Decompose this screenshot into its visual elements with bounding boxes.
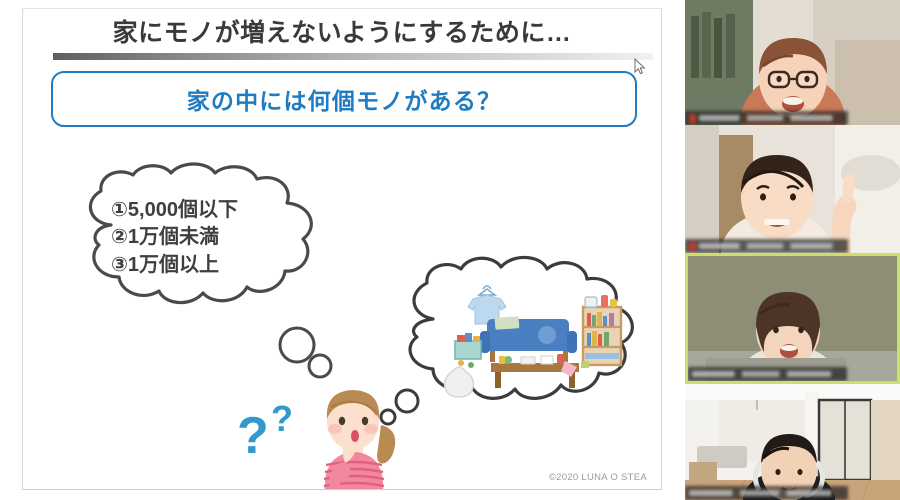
video-frame-1 [685, 0, 900, 125]
participant-tile-3[interactable] [685, 253, 900, 384]
participant-video-1 [685, 0, 900, 125]
participant-tile-1[interactable] [685, 0, 900, 125]
participant-name-label-4 [685, 486, 848, 500]
video-frame-4 [685, 384, 900, 500]
participant-name-text-2 [699, 243, 844, 249]
participant-video-2 [685, 125, 900, 253]
presentation-slide: 家にモノが増えないようにするために… 家の中には何個モノがある？ ①5,000個… [22, 8, 662, 490]
question-box-text: 家の中には何個モノがある？ [187, 82, 502, 116]
bookshelf-illustration [583, 295, 621, 365]
participant-name-text-1 [699, 115, 844, 121]
answer-option-1: ①5,000個以下 [111, 197, 341, 223]
participant-name-label-1 [685, 111, 848, 125]
thinking-woman-illustration [295, 381, 415, 490]
shared-screen-area[interactable]: 家にモノが増えないようにするために… 家の中には何個モノがある？ ①5,000個… [0, 0, 685, 500]
participant-tile-2[interactable] [685, 125, 900, 253]
answer-option-3: ③1万個以上 [111, 252, 341, 278]
svg-text:?: ? [271, 398, 293, 439]
title-divider-rule [53, 53, 653, 60]
copyright-notice: ©2020 LUNA O STEA [549, 472, 647, 483]
microphone-muted-icon [689, 114, 696, 123]
participant-name-text-3 [692, 371, 843, 377]
participant-filmstrip[interactable] [685, 0, 900, 500]
participant-tile-4[interactable] [685, 384, 900, 500]
video-frame-3 [688, 256, 897, 381]
microphone-muted-icon [689, 242, 696, 251]
slide-title: 家にモノが増えないようにするために… [23, 13, 661, 49]
participant-video-4 [685, 384, 900, 500]
svg-text:?: ? [237, 407, 269, 465]
cloud-outline-icon [395, 253, 655, 425]
participant-video-3 [688, 256, 897, 381]
thought-bubble-trail-left [275, 325, 355, 385]
participant-name-label-2 [685, 239, 848, 253]
participant-name-label-3 [688, 367, 847, 381]
answer-options-list: ①5,000個以下 ②1万個未満 ③1万個以上 [111, 197, 341, 278]
participant-name-text-4 [689, 490, 844, 496]
answer-option-2: ②1万個未満 [111, 224, 341, 250]
video-frame-2 [685, 125, 900, 253]
meeting-screen-share-view: 家にモノが増えないようにするために… 家の中には何個モノがある？ ①5,000個… [0, 0, 900, 500]
answer-options-thought-cloud: ①5,000個以下 ②1万個未満 ③1万個以上 [67, 161, 367, 316]
cluttered-room-thought-cloud [395, 253, 655, 425]
question-box: 家の中には何個モノがある？ [51, 71, 637, 127]
